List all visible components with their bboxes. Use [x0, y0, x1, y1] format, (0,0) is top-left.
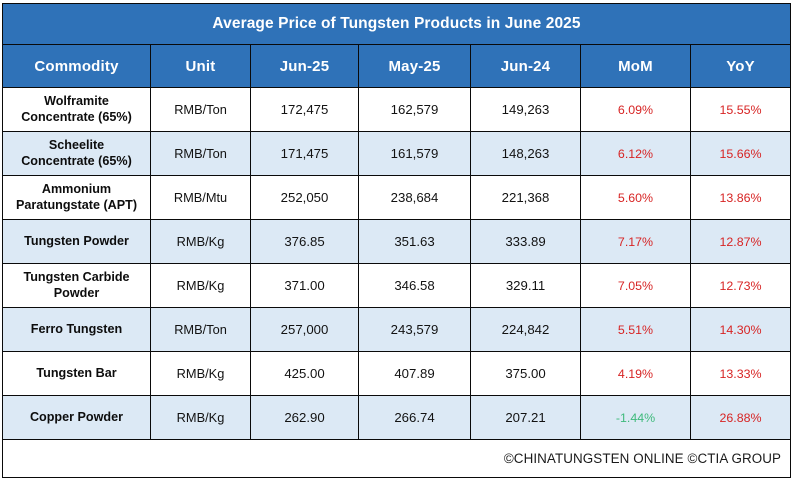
cell-yoy: 13.86%: [691, 176, 791, 220]
table-row: Copper PowderRMB/Kg262.90266.74207.21-1.…: [3, 396, 791, 440]
cell-yoy: 12.73%: [691, 264, 791, 308]
cell-jun-24: 221,368: [471, 176, 581, 220]
cell-may-25: 351.63: [359, 220, 471, 264]
cell-unit: RMB/Kg: [151, 352, 251, 396]
cell-unit: RMB/Kg: [151, 396, 251, 440]
cell-unit: RMB/Mtu: [151, 176, 251, 220]
cell-unit: RMB/Kg: [151, 220, 251, 264]
cell-commodity: ScheeliteConcentrate (65%): [3, 132, 151, 176]
cell-jun-25: 425.00: [251, 352, 359, 396]
cell-may-25: 161,579: [359, 132, 471, 176]
cell-unit: RMB/Kg: [151, 264, 251, 308]
cell-yoy: 12.87%: [691, 220, 791, 264]
cell-may-25: 266.74: [359, 396, 471, 440]
cell-jun-24: 224,842: [471, 308, 581, 352]
cell-unit: RMB/Ton: [151, 132, 251, 176]
cell-mom: 6.09%: [581, 88, 691, 132]
table-row: Tungsten PowderRMB/Kg376.85351.63333.897…: [3, 220, 791, 264]
cell-jun-25: 262.90: [251, 396, 359, 440]
cell-may-25: 407.89: [359, 352, 471, 396]
commodity-line-2: Powder: [3, 286, 150, 302]
cell-mom: 5.60%: [581, 176, 691, 220]
page-title: Average Price of Tungsten Products in Ju…: [3, 4, 791, 45]
cell-yoy: 14.30%: [691, 308, 791, 352]
table-title-row: Average Price of Tungsten Products in Ju…: [3, 4, 791, 45]
column-header-mom: MoM: [581, 45, 691, 88]
commodity-line-1: Ferro Tungsten: [3, 322, 150, 338]
column-header-yoy: YoY: [691, 45, 791, 88]
cell-jun-25: 371.00: [251, 264, 359, 308]
cell-jun-24: 149,263: [471, 88, 581, 132]
cell-commodity: Ferro Tungsten: [3, 308, 151, 352]
column-header-may-25: May-25: [359, 45, 471, 88]
commodity-line-1: Copper Powder: [3, 410, 150, 426]
table-header-row: CommodityUnitJun-25May-25Jun-24MoMYoY: [3, 45, 791, 88]
commodity-line-1: Tungsten Carbide: [3, 270, 150, 286]
commodity-line-2: Concentrate (65%): [3, 154, 150, 170]
price-table-container: Average Price of Tungsten Products in Ju…: [2, 3, 790, 478]
table-row: Tungsten BarRMB/Kg425.00407.89375.004.19…: [3, 352, 791, 396]
copyright-notice: ©CHINATUNGSTEN ONLINE ©CTIA GROUP: [3, 440, 791, 478]
cell-mom: 7.05%: [581, 264, 691, 308]
screenshot-root: CTOMS www.chinatungsten.com Average Pric…: [0, 0, 800, 480]
cell-mom: 6.12%: [581, 132, 691, 176]
commodity-line-2: Concentrate (65%): [3, 110, 150, 126]
commodity-line-1: Tungsten Powder: [3, 234, 150, 250]
cell-commodity: WolframiteConcentrate (65%): [3, 88, 151, 132]
cell-may-25: 238,684: [359, 176, 471, 220]
cell-mom: 4.19%: [581, 352, 691, 396]
price-table: Average Price of Tungsten Products in Ju…: [2, 3, 791, 478]
cell-jun-24: 148,263: [471, 132, 581, 176]
table-row: AmmoniumParatungstate (APT)RMB/Mtu252,05…: [3, 176, 791, 220]
column-header-jun-24: Jun-24: [471, 45, 581, 88]
cell-jun-24: 329.11: [471, 264, 581, 308]
table-row: ScheeliteConcentrate (65%)RMB/Ton171,475…: [3, 132, 791, 176]
commodity-line-1: Tungsten Bar: [3, 366, 150, 382]
cell-jun-24: 207.21: [471, 396, 581, 440]
commodity-line-1: Wolframite: [3, 94, 150, 110]
cell-jun-25: 171,475: [251, 132, 359, 176]
cell-jun-25: 376.85: [251, 220, 359, 264]
column-header-commodity: Commodity: [3, 45, 151, 88]
cell-jun-25: 257,000: [251, 308, 359, 352]
cell-yoy: 26.88%: [691, 396, 791, 440]
cell-commodity: Copper Powder: [3, 396, 151, 440]
commodity-line-1: Scheelite: [3, 138, 150, 154]
cell-may-25: 162,579: [359, 88, 471, 132]
cell-mom: -1.44%: [581, 396, 691, 440]
cell-mom: 5.51%: [581, 308, 691, 352]
cell-mom: 7.17%: [581, 220, 691, 264]
commodity-line-1: Ammonium: [3, 182, 150, 198]
cell-commodity: AmmoniumParatungstate (APT): [3, 176, 151, 220]
column-header-jun-25: Jun-25: [251, 45, 359, 88]
cell-yoy: 13.33%: [691, 352, 791, 396]
cell-yoy: 15.55%: [691, 88, 791, 132]
cell-jun-24: 375.00: [471, 352, 581, 396]
commodity-line-2: Paratungstate (APT): [3, 198, 150, 214]
table-footer-row: ©CHINATUNGSTEN ONLINE ©CTIA GROUP: [3, 440, 791, 478]
table-row: WolframiteConcentrate (65%)RMB/Ton172,47…: [3, 88, 791, 132]
column-header-unit: Unit: [151, 45, 251, 88]
table-row: Tungsten CarbidePowderRMB/Kg371.00346.58…: [3, 264, 791, 308]
cell-commodity: Tungsten Powder: [3, 220, 151, 264]
cell-yoy: 15.66%: [691, 132, 791, 176]
cell-jun-24: 333.89: [471, 220, 581, 264]
cell-commodity: Tungsten Bar: [3, 352, 151, 396]
cell-commodity: Tungsten CarbidePowder: [3, 264, 151, 308]
table-row: Ferro TungstenRMB/Ton257,000243,579224,8…: [3, 308, 791, 352]
cell-jun-25: 172,475: [251, 88, 359, 132]
cell-unit: RMB/Ton: [151, 88, 251, 132]
cell-may-25: 346.58: [359, 264, 471, 308]
cell-may-25: 243,579: [359, 308, 471, 352]
cell-unit: RMB/Ton: [151, 308, 251, 352]
cell-jun-25: 252,050: [251, 176, 359, 220]
